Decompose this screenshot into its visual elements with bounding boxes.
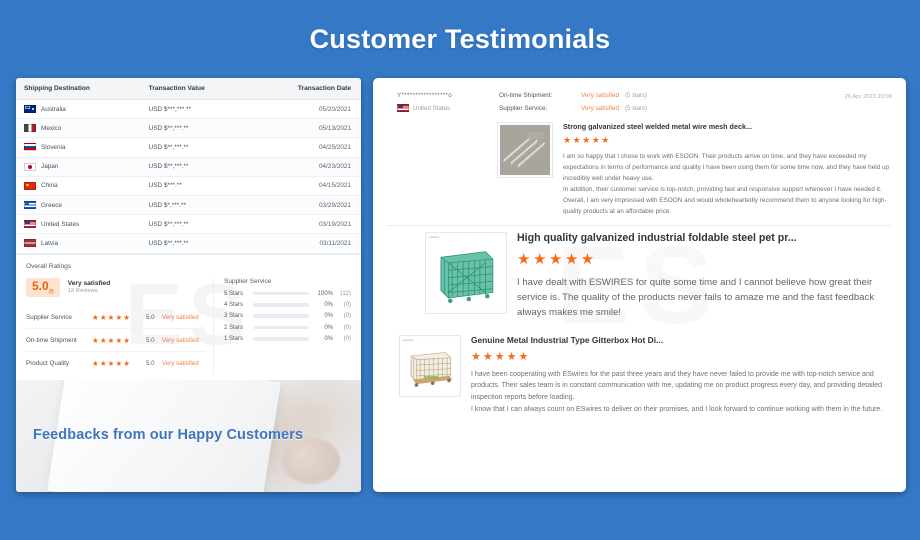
review-paragraph: In addition, their customer service is t… — [563, 184, 892, 195]
cell-transaction-value: USD $**,***.** — [143, 119, 251, 138]
bar-label: 3 Stars — [224, 313, 249, 319]
us-flag-icon — [397, 104, 409, 112]
table-row: JapanUSD $**,***.**04/23/2021 — [16, 157, 361, 176]
table-row: GreeceUSD $*,***.**03/29/2021 — [16, 195, 361, 214]
shipping-transactions-table: Shipping Destination Transaction Value T… — [16, 78, 361, 254]
cell-destination: Japan — [16, 157, 143, 176]
metric-label: Very satisfied — [162, 314, 199, 321]
gr-flag-icon — [24, 201, 36, 209]
cell-destination: United States — [16, 215, 143, 234]
destination-label: Australia — [41, 106, 66, 113]
bar-label: 4 Stars — [224, 302, 249, 308]
table-row: ChinaUSD $***.**04/15/2021 — [16, 176, 361, 195]
ratings-section-title: Overall Ratings — [26, 263, 351, 270]
cell-transaction-date: 05/13/2021 — [251, 119, 361, 138]
jp-flag-icon — [24, 163, 36, 171]
bar-count: (0) — [337, 302, 351, 308]
score-value: Very satisfied — [581, 92, 619, 99]
cell-destination: Greece — [16, 195, 143, 214]
cell-transaction-value: USD $**,***.** — [143, 234, 251, 253]
bar-track — [253, 292, 309, 296]
cell-destination: Australia — [16, 100, 143, 119]
cell-transaction-value: USD $**,***.** — [143, 157, 251, 176]
review-text: I am so happy that I chose to work with … — [563, 151, 892, 217]
rating-metric-row: Product Quality★★★★★5.0Very satisfied — [26, 351, 205, 374]
reviewer-country: United States — [413, 105, 450, 112]
overall-ratings-section: Overall Ratings 5.0/5 Very satisfied 12 … — [16, 254, 361, 381]
product-title[interactable]: Strong galvanized steel welded metal wir… — [563, 122, 892, 131]
breakdown-bar-row: 4 Stars0%(0) — [224, 302, 351, 308]
hero-banner-text: Feedbacks from our Happy Customers — [33, 427, 303, 443]
bar-count: (0) — [337, 336, 351, 342]
review-paragraph: I am so happy that I chose to work with … — [563, 151, 892, 184]
cell-transaction-value: USD $***.** — [143, 176, 251, 195]
destination-label: China — [41, 182, 58, 189]
bar-track — [253, 326, 309, 330]
destination-label: Japan — [41, 163, 58, 170]
metric-value: 5.0 — [146, 314, 162, 321]
product-thumbnail[interactable]: eswires — [425, 232, 507, 314]
cell-transaction-value: USD $**,***.** — [143, 215, 251, 234]
score-value: Very satisfied — [581, 105, 619, 112]
gitterbox-image — [402, 338, 458, 394]
column-transaction-value: Transaction Value — [143, 78, 251, 100]
reviews-panel: ES Y*****************o United States On-… — [373, 78, 906, 492]
lv-flag-icon — [24, 239, 36, 247]
bar-percent: 100% — [313, 291, 333, 297]
review-paragraph: I have been cooperating with ESwires for… — [471, 369, 892, 404]
overall-score-label: Very satisfied — [68, 280, 111, 287]
overall-score-badge: 5.0/5 — [26, 278, 60, 298]
column-transaction-date: Transaction Date — [251, 78, 361, 100]
review-paragraph: Overall, I am very impressed with ESOON … — [563, 195, 892, 217]
bar-count: (0) — [337, 325, 351, 331]
table-header-row: Shipping Destination Transaction Value T… — [16, 78, 361, 100]
overall-score-value: 5.0 — [32, 279, 49, 293]
product-title[interactable]: High quality galvanized industrial folda… — [517, 232, 892, 244]
cell-transaction-date: 04/15/2021 — [251, 176, 361, 195]
product-title[interactable]: Genuine Metal Industrial Type Gitterbox … — [471, 335, 892, 345]
product-thumbnail[interactable]: eswires — [399, 335, 461, 397]
metric-value: 5.0 — [146, 337, 162, 344]
table-row: MexicoUSD $**,***.**05/13/2021 — [16, 119, 361, 138]
divider — [387, 225, 892, 226]
review-paragraph: I know that I can always count on ESwire… — [471, 404, 892, 416]
table-row: LatviaUSD $**,***.**03/11/2021 — [16, 234, 361, 253]
bar-count: (12) — [337, 291, 351, 297]
metric-name: Supplier Service — [26, 314, 92, 321]
metric-rows: Supplier Service★★★★★5.0Very satisfiedOn… — [26, 306, 205, 374]
testimonials-board: ES Shipping Destination Transaction Valu… — [0, 78, 920, 503]
breakdown-bars: 5 Stars100%(12)4 Stars0%(0)3 Stars0%(0)2… — [224, 291, 351, 343]
au-flag-icon — [24, 105, 36, 113]
table-body: AustraliaUSD $***,***.**05/20/2021Mexico… — [16, 100, 361, 254]
score-note: (5 stars) — [625, 93, 647, 99]
cell-transaction-date: 04/25/2021 — [251, 138, 361, 157]
cell-transaction-date: 03/19/2021 — [251, 215, 361, 234]
transactions-panel: ES Shipping Destination Transaction Valu… — [16, 78, 361, 492]
overall-score-suffix: /5 — [49, 289, 54, 295]
destination-label: Mexico — [41, 125, 61, 132]
bar-percent: 0% — [313, 325, 333, 331]
table-row: AustraliaUSD $***,***.**05/20/2021 — [16, 100, 361, 119]
cn-flag-icon — [24, 182, 36, 190]
cell-transaction-value: USD $***,***.** — [143, 100, 251, 119]
bar-count: (0) — [337, 313, 351, 319]
cell-transaction-date: 03/29/2021 — [251, 195, 361, 214]
bar-percent: 0% — [313, 336, 333, 342]
cell-destination: Latvia — [16, 234, 143, 253]
overall-score-row: 5.0/5 Very satisfied 12 Reviews — [26, 278, 205, 298]
us-flag-icon — [24, 220, 36, 228]
destination-label: Greece — [41, 202, 62, 209]
destination-label: Latvia — [41, 240, 58, 247]
bar-label: 2 Stars — [224, 325, 249, 331]
page-title: Customer Testimonials — [0, 0, 920, 69]
breakdown-title: Supplier Service — [224, 278, 351, 285]
cell-transaction-date: 04/23/2021 — [251, 157, 361, 176]
review-text: I have dealt with ESWIRES for quite some… — [517, 276, 892, 321]
bar-percent: 0% — [313, 302, 333, 308]
score-line: On-time Shipment: Very satisfied (5 star… — [499, 92, 845, 99]
bar-track — [253, 337, 309, 341]
thumbnail-watermark: eswires — [501, 125, 511, 129]
si-flag-icon — [24, 143, 36, 151]
rating-metric-row: Supplier Service★★★★★5.0Very satisfied — [26, 306, 205, 328]
cell-transaction-value: USD $*,***.** — [143, 195, 251, 214]
table-header: Shipping Destination Transaction Value T… — [16, 78, 361, 100]
table-row: United StatesUSD $**,***.**03/19/2021 — [16, 215, 361, 234]
score-key: Supplier Service: — [499, 105, 575, 112]
review-paragraph: I have dealt with ESWIRES for quite some… — [517, 276, 892, 321]
metric-name: Product Quality — [26, 360, 92, 367]
bar-label: 1 Stars — [224, 336, 249, 342]
review-date: 26 Apr 2023 20:06 — [845, 92, 892, 100]
thumbnail-watermark: eswires — [403, 338, 413, 342]
metric-value: 5.0 — [146, 360, 162, 367]
cell-transaction-date: 05/20/2021 — [251, 100, 361, 119]
table-row: SloveniaUSD $**,***.**04/25/2021 — [16, 138, 361, 157]
breakdown-bar-row: 2 Stars0%(0) — [224, 325, 351, 331]
mx-flag-icon — [24, 124, 36, 132]
metric-stars: ★★★★★ — [92, 359, 146, 368]
review-stars: ★★★★★ — [471, 350, 892, 363]
metric-stars: ★★★★★ — [92, 336, 146, 345]
product-thumbnail[interactable]: eswires — [497, 122, 553, 178]
reviewer-info: Y*****************o United States — [387, 92, 499, 112]
cell-transaction-value: USD $**,***.** — [143, 138, 251, 157]
hero-banner: Feedbacks from our Happy Customers — [16, 380, 361, 492]
cell-destination: China — [16, 176, 143, 195]
review-text: I have been cooperating with ESwires for… — [471, 369, 892, 416]
score-key: On-time Shipment: — [499, 92, 575, 99]
score-note: (5 stars) — [625, 106, 647, 112]
wire-mesh-deck-image — [500, 125, 550, 175]
bar-label: 5 Stars — [224, 291, 249, 297]
column-shipping-destination: Shipping Destination — [16, 78, 143, 100]
metric-stars: ★★★★★ — [92, 313, 146, 322]
score-line: Supplier Service: Very satisfied (5 star… — [499, 105, 845, 112]
foldable-steel-cage-image — [428, 235, 504, 311]
metric-name: On-time Shipment — [26, 337, 92, 344]
review-stars: ★★★★★ — [517, 250, 892, 268]
breakdown-bar-row: 5 Stars100%(12) — [224, 291, 351, 297]
metric-label: Very satisfied — [162, 360, 199, 367]
bar-percent: 0% — [313, 313, 333, 319]
cell-destination: Slovenia — [16, 138, 143, 157]
breakdown-bar-row: 1 Stars0%(0) — [224, 336, 351, 342]
review-item: eswires — [387, 333, 892, 416]
bar-track — [253, 303, 309, 307]
thumbnail-watermark: eswires — [429, 235, 439, 239]
review-count: 12 Reviews — [68, 288, 111, 294]
destination-label: United States — [41, 221, 79, 228]
review-scores: On-time Shipment: Very satisfied (5 star… — [499, 92, 845, 118]
ratings-metrics-column: 5.0/5 Very satisfied 12 Reviews Supplier… — [26, 278, 214, 375]
review-item: Y*****************o United States On-tim… — [387, 88, 892, 226]
reviewer-name: Y*****************o — [397, 92, 499, 99]
breakdown-bar-row: 3 Stars0%(0) — [224, 313, 351, 319]
ratings-breakdown-column: Supplier Service 5 Stars100%(12)4 Stars0… — [224, 278, 351, 375]
cell-transaction-date: 03/11/2021 — [251, 234, 361, 253]
cell-destination: Mexico — [16, 119, 143, 138]
review-item: eswires — [387, 230, 892, 321]
rating-metric-row: On-time Shipment★★★★★5.0Very satisfied — [26, 328, 205, 351]
metric-label: Very satisfied — [162, 337, 199, 344]
bar-track — [253, 314, 309, 318]
review-stars: ★★★★★ — [563, 135, 892, 146]
destination-label: Slovenia — [41, 144, 66, 151]
